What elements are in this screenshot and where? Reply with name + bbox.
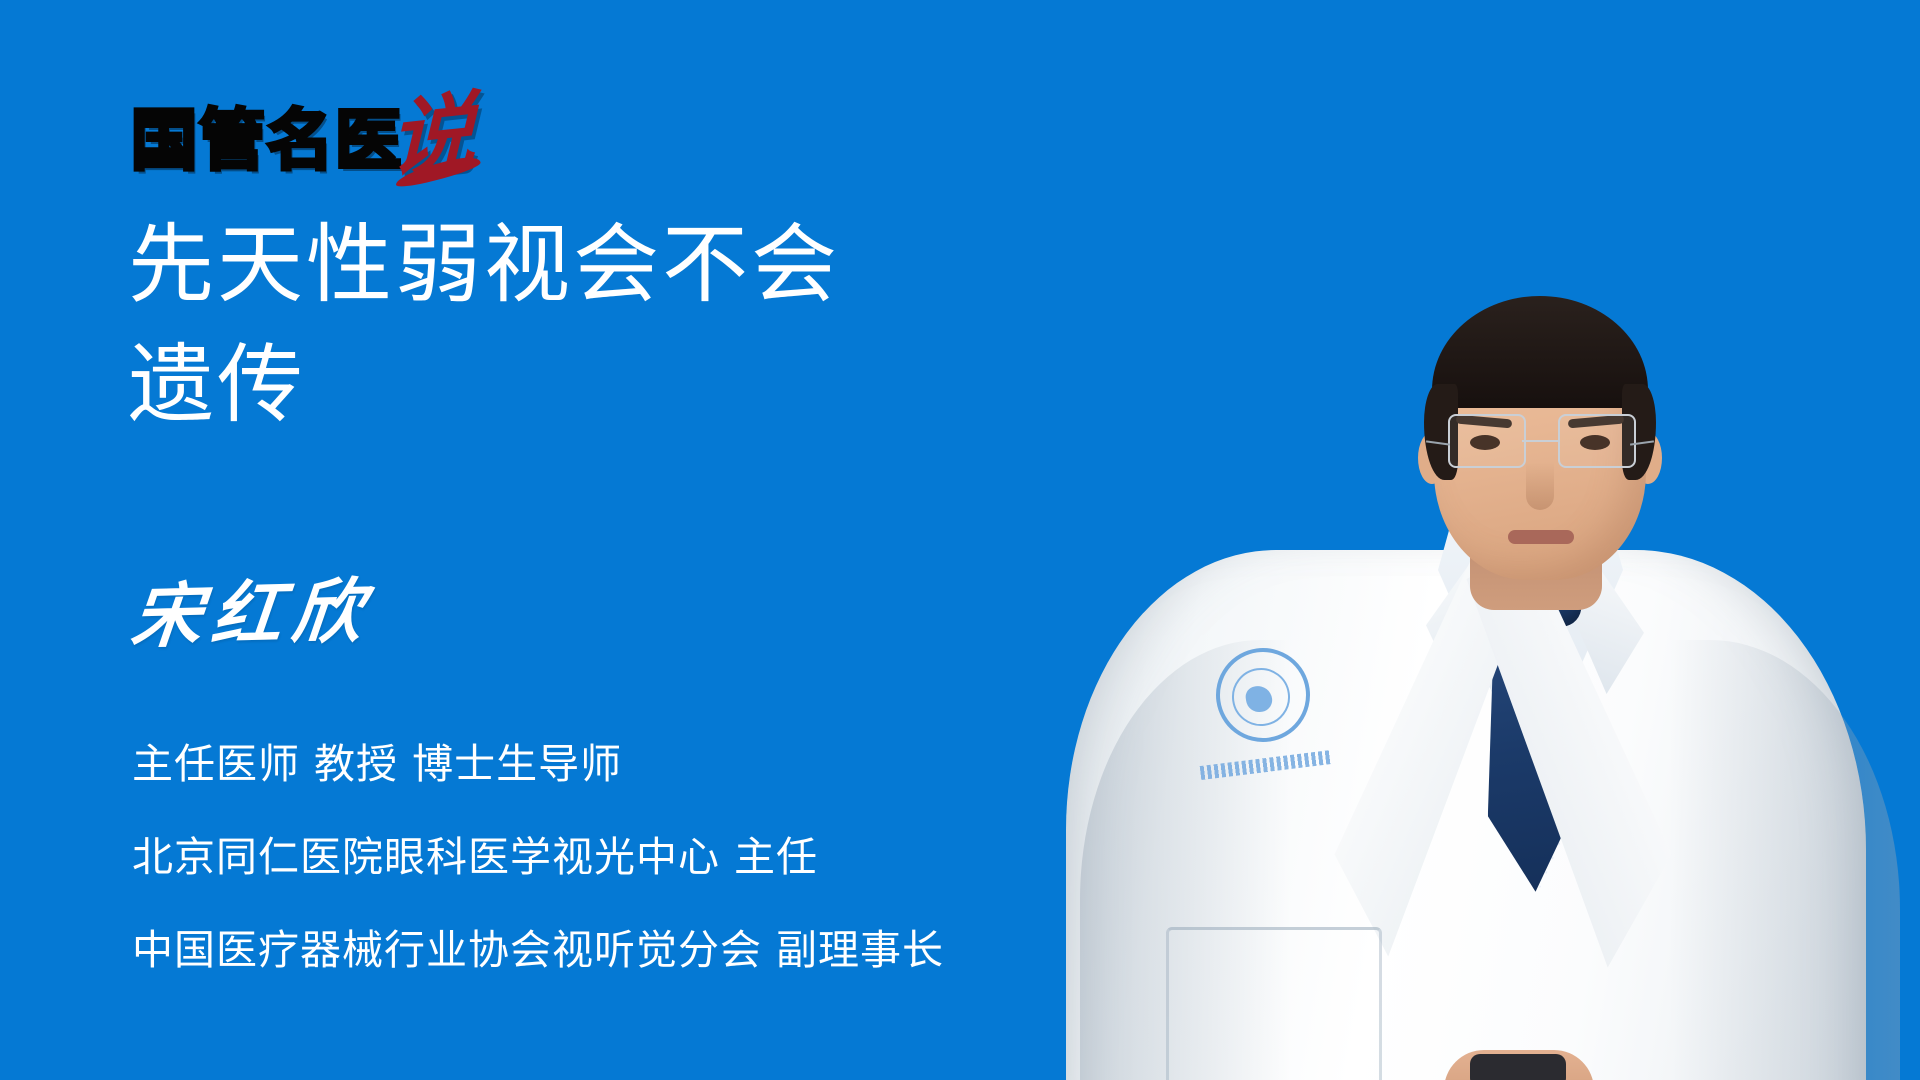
coat-pocket (1166, 927, 1382, 1080)
title-line-1: 先天性弱视会不会 (128, 205, 1028, 325)
program-logo: 国管名医 说 (131, 92, 475, 174)
episode-title: 先天性弱视会不会 遗传 (128, 205, 1028, 445)
credential-line-1: 主任医师 教授 博士生导师 (132, 718, 1112, 811)
eyeglasses-lens-right (1558, 414, 1636, 468)
hair (1432, 296, 1648, 408)
doctor-name: 宋红欣 (128, 572, 376, 656)
nose (1526, 462, 1554, 510)
wristwatch (1470, 1054, 1566, 1080)
logo-main-text: 国管名医 (131, 108, 403, 174)
credential-line-3: 中国医疗器械行业协会视听觉分会 副理事长 (132, 904, 1112, 997)
eyeglasses-lens-left (1448, 414, 1526, 468)
logo-accent-text: 说 (389, 95, 475, 178)
doctor-credentials: 主任医师 教授 博士生导师 北京同仁医院眼科医学视光中心 主任 中国医疗器械行业… (132, 718, 1112, 997)
mouth (1508, 530, 1574, 544)
eyeglasses-bridge (1522, 440, 1558, 442)
title-card: 国管名医 说 先天性弱视会不会 遗传 宋红欣 主任医师 教授 博士生导师 北京同… (0, 0, 1920, 1080)
title-line-2: 遗传 (128, 325, 1028, 445)
coat-shading-right (1670, 640, 1900, 1080)
credential-line-2: 北京同仁医院眼科医学视光中心 主任 (132, 811, 1112, 904)
doctor-portrait-photo (1040, 0, 1920, 1080)
